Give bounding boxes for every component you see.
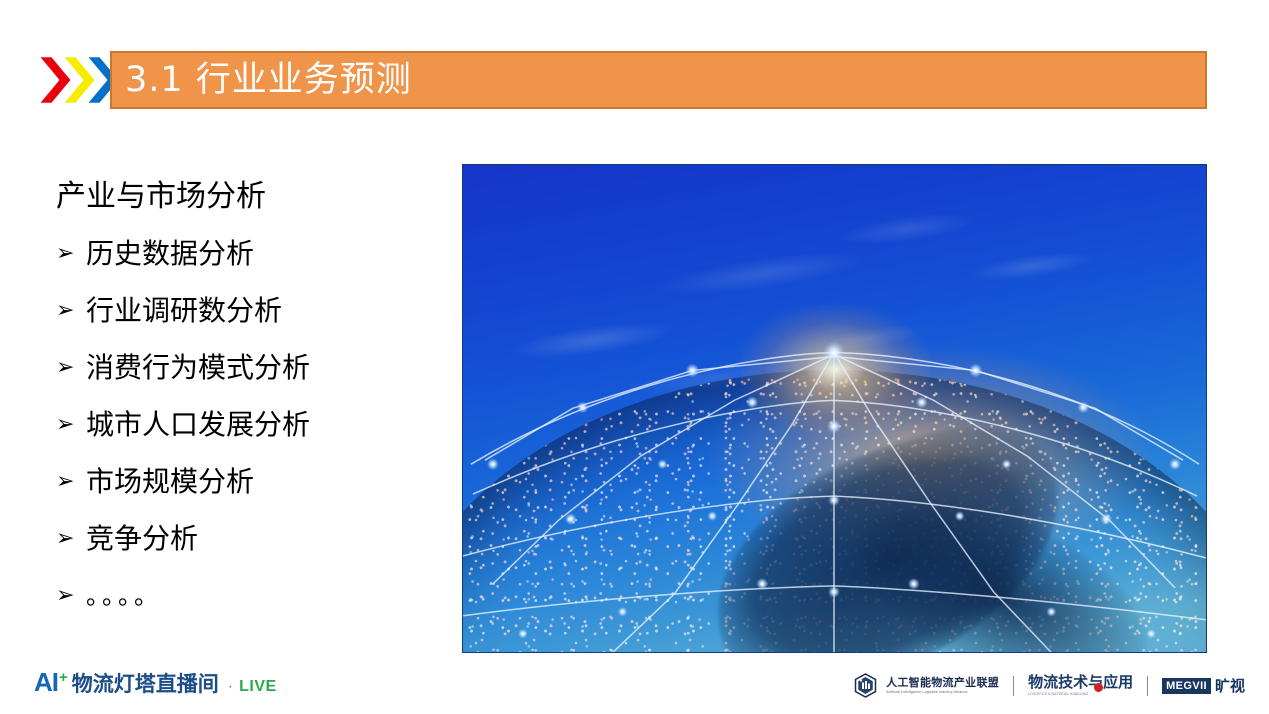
list-item: ➢ 行业调研数分析: [56, 294, 446, 328]
live-brand-logo: AI + 物流灯塔直播间 · LIVE: [34, 667, 277, 698]
list-item-label: 。。。。: [86, 579, 162, 613]
list-item: ➢ 消费行为模式分析: [56, 351, 446, 385]
list-item-label: 历史数据分析: [86, 237, 254, 271]
list-item: ➢ 竞争分析: [56, 522, 446, 556]
magazine-logo: 物流技术与应用 LOGISTICS & MATERIAL HANDLING: [1028, 675, 1133, 696]
arrow-bullet-icon: ➢: [56, 351, 86, 385]
content-list: 产业与市场分析 ➢ 历史数据分析 ➢ 行业调研数分析 ➢ 消费行为模式分析 ➢ …: [56, 182, 446, 636]
megvii-name-en: MEGVII: [1162, 678, 1211, 694]
partner-logos: 人工智能物流产业联盟 Artificial Intelligence Logis…: [854, 673, 1245, 698]
page-title: 3.1 行业业务预测: [112, 63, 412, 98]
arrow-bullet-icon: ➢: [56, 237, 86, 271]
slide-title-row: 3.1 行业业务预测: [0, 51, 1269, 109]
list-item: ➢ 城市人口发展分析: [56, 408, 446, 442]
list-item-label: 竞争分析: [86, 522, 198, 556]
arrow-bullet-icon: ➢: [56, 408, 86, 442]
logo-divider: [1147, 676, 1148, 696]
megvii-logo: MEGVII 旷视: [1162, 675, 1245, 696]
arrow-bullet-icon: ➢: [56, 294, 86, 328]
megvii-name-cn: 旷视: [1215, 675, 1245, 696]
arrow-bullet-icon: ➢: [56, 579, 86, 613]
chevron-arrows-decoration: [36, 49, 114, 111]
alliance-hexagon-icon: [854, 673, 877, 698]
slide-footer: AI + 物流灯塔直播间 · LIVE 人工智能物流产业联盟 Artificia…: [0, 654, 1269, 714]
alliance-name-cn: 人工智能物流产业联盟: [886, 677, 999, 688]
brand-ai-text: AI: [34, 667, 58, 698]
list-item: ➢ 。。。。: [56, 579, 446, 613]
live-badge: LIVE: [239, 678, 277, 696]
list-item: ➢ 市场规模分析: [56, 465, 446, 499]
alliance-logo-text: 人工智能物流产业联盟 Artificial Intelligence Logis…: [886, 677, 999, 695]
magazine-name-en: LOGISTICS & MATERIAL HANDLING: [1028, 693, 1133, 696]
list-item-label: 市场规模分析: [86, 465, 254, 499]
alliance-name-en: Artificial Intelligence Logistics Indust…: [886, 691, 999, 695]
brand-name-cn: 物流灯塔直播间: [72, 668, 219, 698]
list-heading: 产业与市场分析: [56, 182, 446, 212]
arrow-bullet-icon: ➢: [56, 465, 86, 499]
logo-divider: [1013, 676, 1014, 696]
brand-separator-dot: ·: [228, 678, 233, 696]
list-item-label: 城市人口发展分析: [86, 408, 310, 442]
arrow-bullet-icon: ➢: [56, 522, 86, 556]
magazine-name-cn: 物流技术与应用: [1028, 675, 1133, 690]
slide-image: [462, 164, 1207, 653]
list-item-label: 行业调研数分析: [86, 294, 282, 328]
list-item: ➢ 历史数据分析: [56, 237, 446, 271]
magazine-accent-dot-icon: [1094, 683, 1103, 692]
slide: 3.1 行业业务预测 产业与市场分析 ➢ 历史数据分析 ➢ 行业调研数分析 ➢ …: [0, 0, 1269, 714]
brand-plus-icon: +: [59, 669, 68, 686]
title-bar: 3.1 行业业务预测: [110, 51, 1207, 109]
list-item-label: 消费行为模式分析: [86, 351, 310, 385]
